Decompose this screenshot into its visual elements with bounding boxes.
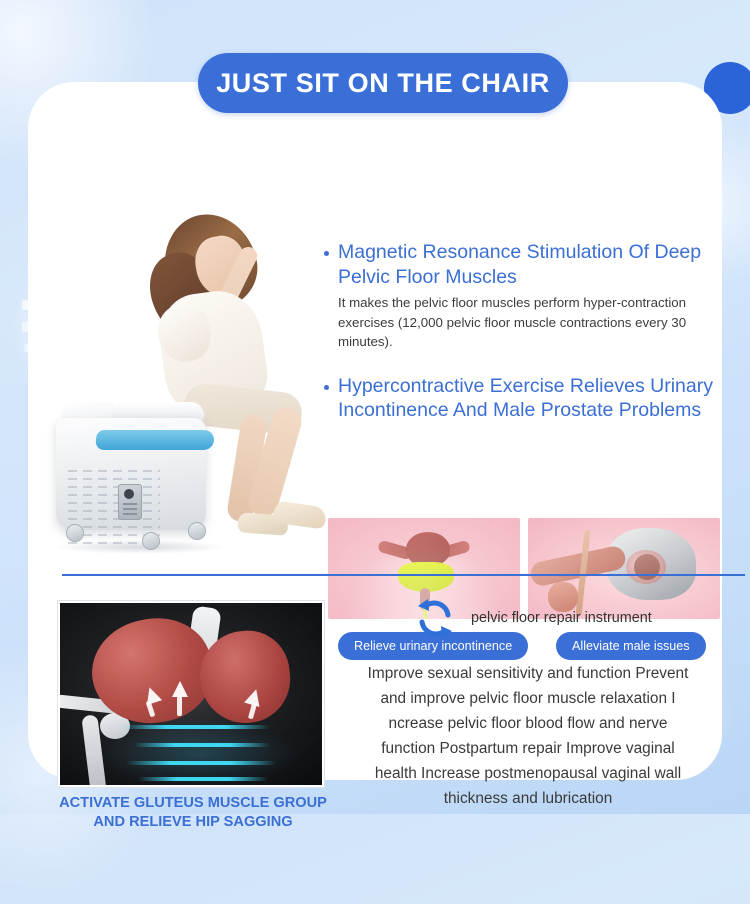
- panel-line: [123, 503, 137, 505]
- feature-item-2: Hypercontractive Exercise Relieves Urina…: [324, 374, 716, 423]
- knob-icon: [124, 489, 134, 499]
- energy-line: [126, 761, 276, 765]
- bottom-right-column: pelvic floor repair instrument Improve s…: [353, 596, 703, 812]
- bottom-section: ACTIVATE GLUTEUS MUSCLE GROUP AND RELIEV…: [28, 582, 722, 862]
- energy-line: [122, 725, 270, 729]
- content-card: Magnetic Resonance Stimulation Of Deep P…: [28, 82, 722, 780]
- feature-list: Magnetic Resonance Stimulation Of Deep P…: [324, 240, 716, 423]
- panel-line: [123, 508, 137, 510]
- energy-glow: [100, 721, 300, 785]
- prostate-shape: [634, 554, 660, 580]
- page-title: JUST SIT ON THE CHAIR: [216, 68, 550, 99]
- section-divider: [62, 574, 745, 576]
- lift-arrow-icon: [177, 696, 182, 716]
- benefits-paragraph: Improve sexual sensitivity and function …: [353, 662, 703, 812]
- feature-heading: Hypercontractive Exercise Relieves Urina…: [338, 374, 716, 423]
- caster-wheel: [142, 532, 160, 550]
- panel-line: [123, 513, 137, 515]
- gluteus-muscle-image: [60, 603, 322, 785]
- chair-machine-illustration: [56, 396, 236, 554]
- top-section: Magnetic Resonance Stimulation Of Deep P…: [28, 182, 722, 574]
- caster-wheel: [66, 524, 84, 542]
- product-photo: [48, 192, 318, 572]
- recycle-arrows-icon: [413, 596, 457, 640]
- energy-line: [134, 743, 270, 747]
- glute-image-frame: [57, 600, 325, 788]
- feature-heading: Magnetic Resonance Stimulation Of Deep P…: [338, 240, 716, 289]
- machine-seat-cushion: [95, 430, 215, 450]
- logo-row: pelvic floor repair instrument: [353, 596, 703, 640]
- bullet-dot-icon: [324, 251, 329, 256]
- lift-arrow-icon: [172, 681, 188, 697]
- machine-control-panel: [118, 484, 142, 520]
- caster-wheel: [188, 522, 206, 540]
- bullet-dot-icon: [324, 385, 329, 390]
- feature-item-1: Magnetic Resonance Stimulation Of Deep P…: [324, 240, 716, 352]
- feature-body: It makes the pelvic floor muscles perfor…: [338, 293, 716, 352]
- header-banner: JUST SIT ON THE CHAIR: [198, 53, 568, 113]
- logo-label: pelvic floor repair instrument: [471, 610, 652, 626]
- glute-caption: ACTIVATE GLUTEUS MUSCLE GROUP AND RELIEV…: [48, 794, 338, 833]
- energy-line: [138, 777, 268, 781]
